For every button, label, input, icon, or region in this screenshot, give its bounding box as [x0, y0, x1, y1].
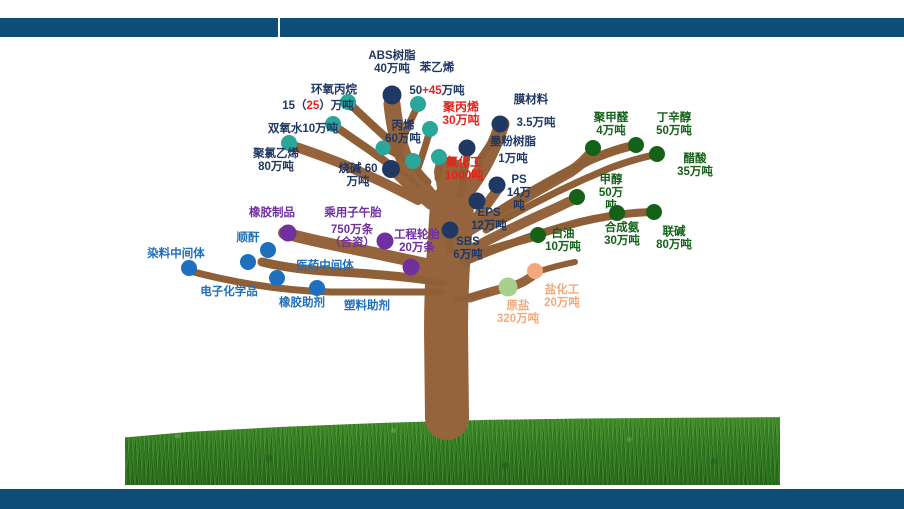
node-raw-salt[interactable]: [499, 278, 518, 297]
node-dye-intermediate[interactable]: [181, 260, 197, 276]
label-line: 合成氨: [604, 222, 640, 235]
label-line: 丁辛醇: [656, 112, 692, 125]
label-lianjian: 联碱80万吨: [656, 226, 692, 252]
label-line: 1万吨: [498, 153, 527, 166]
label-line: 35万吨: [677, 166, 713, 179]
label-line: PS: [507, 174, 531, 187]
label-line: 50万吨: [656, 125, 692, 138]
label-film-material: 膜材料: [514, 94, 549, 107]
label-acetic-acid: 醋酸35万吨: [677, 153, 713, 179]
label-line: 60万吨: [385, 133, 421, 146]
label-line: 聚氯乙烯: [253, 148, 299, 161]
label-highlight: 25: [307, 100, 320, 112]
label-line: 电子化学品: [200, 286, 258, 299]
label-passenger-radial: 乘用子午胎: [324, 207, 382, 220]
node-lianjian[interactable]: [646, 204, 662, 220]
node-rubber-products[interactable]: [280, 225, 297, 242]
node-pharma-intermediate[interactable]: [240, 254, 256, 270]
label-line: 3.5万吨: [517, 117, 556, 130]
label-polyoxymethylene: 聚甲醛4万吨: [594, 112, 629, 138]
node-polyoxymethylene[interactable]: [585, 140, 601, 156]
label-toner-resin: 墨粉树脂: [490, 136, 536, 149]
label-line: 80万吨: [656, 239, 692, 252]
label-octanol: 丁辛醇50万吨: [656, 112, 692, 138]
label-line: 6万吨: [453, 249, 482, 262]
node-abs-resin[interactable]: [383, 86, 402, 105]
node-rubber-additive[interactable]: [309, 280, 325, 296]
label-plastic-additive: 塑料助剂: [344, 300, 390, 313]
label-line: 80万吨: [253, 161, 299, 174]
label-line: 聚甲醛: [594, 112, 629, 125]
label-raw-salt: 原盐320万吨: [497, 300, 539, 326]
node-octanol[interactable]: [628, 137, 644, 153]
label-line: 20万吨: [544, 297, 580, 310]
tree-graphic: [0, 0, 904, 509]
label-styrene-qty: 50+45万吨: [409, 85, 464, 98]
label-line: 万吨: [339, 176, 378, 189]
label-styrene: 苯乙烯: [420, 62, 455, 75]
label-maleic-anhydride: 顺酐: [237, 232, 260, 245]
label-line: 烧碱 60: [339, 163, 378, 176]
label-line: 750万条: [329, 224, 375, 237]
label-line: 醋酸: [677, 153, 713, 166]
label-line: 丙烯: [385, 120, 421, 133]
node-ps[interactable]: [489, 177, 506, 194]
label-abs-resin: ABS树脂40万吨: [368, 50, 415, 76]
bottom-brand-bar: [0, 489, 904, 509]
label-line: 50+45万吨: [409, 85, 464, 98]
label-line: 40万吨: [368, 63, 415, 76]
label-line: （合资）: [329, 237, 375, 250]
label-methanol: 甲醇50万吨: [599, 174, 623, 213]
node-caustic-soda[interactable]: [382, 160, 400, 178]
label-line: 20万条: [394, 242, 440, 255]
label-line: 30万吨: [442, 114, 479, 127]
label-line: SBS: [453, 236, 482, 249]
label-film-material-qty: 3.5万吨: [517, 117, 556, 130]
label-line: 50万: [599, 187, 623, 200]
label-engineering-tire: 工程轮胎20万条: [394, 229, 440, 255]
label-fluorine-chem: 氟化工1000吨: [445, 156, 484, 183]
label-line: EPS: [471, 207, 507, 220]
label-line: 原盐: [497, 300, 539, 313]
node-engineering-tire[interactable]: [403, 259, 420, 276]
label-dye-intermediate: 染料中间体: [147, 248, 205, 261]
label-rubber-additive: 橡胶助剂: [279, 297, 325, 310]
node-electronic-chemicals[interactable]: [269, 270, 285, 286]
label-white-oil: 白油10万吨: [545, 228, 581, 254]
node-polypropylene[interactable]: [422, 121, 438, 137]
node-styrene[interactable]: [410, 96, 426, 112]
label-line: 30万吨: [604, 235, 640, 248]
node-toner-resin[interactable]: [459, 140, 476, 157]
label-epoxy-propane-qty: 15（25）万吨: [282, 100, 354, 113]
label-line: 320万吨: [497, 313, 539, 326]
slide-canvas: ABS树脂40万吨苯乙烯50+45万吨环氧丙烷15（25）万吨膜材料3.5万吨聚…: [0, 0, 904, 509]
label-line: 4万吨: [594, 125, 629, 138]
label-synthetic-ammonia: 合成氨30万吨: [604, 222, 640, 248]
label-line: 环氧丙烷: [311, 84, 357, 97]
label-line: 橡胶制品: [249, 207, 295, 220]
label-polypropylene: 聚丙烯30万吨: [442, 101, 479, 128]
label-electronic-chemicals: 电子化学品: [200, 286, 258, 299]
label-caustic-soda: 烧碱 60万吨: [339, 163, 378, 189]
label-toner-resin-qty: 1万吨: [498, 153, 527, 166]
label-highlight: +45: [422, 85, 442, 97]
label-pharma-intermediate: 医药中间体: [296, 260, 354, 273]
node-passenger-radial[interactable]: [377, 233, 394, 250]
label-line: 双氧水10万吨: [268, 123, 338, 136]
label-line: 吨: [599, 200, 623, 213]
node-methanol[interactable]: [569, 189, 585, 205]
label-line: 医药中间体: [296, 260, 354, 273]
label-line: 工程轮胎: [394, 229, 440, 242]
label-line: 盐化工: [544, 284, 580, 297]
label-line: 塑料助剂: [344, 300, 390, 313]
label-epoxy-propane: 环氧丙烷: [311, 84, 357, 97]
label-line: 墨粉树脂: [490, 136, 536, 149]
label-line: 1000吨: [445, 169, 484, 182]
label-line: 甲醇: [599, 174, 623, 187]
label-line: 吨: [507, 200, 531, 213]
label-line: 10万吨: [545, 241, 581, 254]
label-salt-chemical: 盐化工20万吨: [544, 284, 580, 310]
label-line: 15（25）万吨: [282, 100, 354, 113]
label-line: ABS树脂: [368, 50, 415, 63]
label-line: 白油: [545, 228, 581, 241]
label-line: 12万吨: [471, 220, 507, 233]
label-line: 苯乙烯: [420, 62, 455, 75]
label-ps: PS14万吨: [507, 174, 531, 213]
node-white-oil[interactable]: [530, 227, 546, 243]
label-pvc: 聚氯乙烯80万吨: [253, 148, 299, 174]
label-line: 顺酐: [237, 232, 260, 245]
label-line: 联碱: [656, 226, 692, 239]
label-line: 14万: [507, 187, 531, 200]
twig-2: [446, 296, 449, 320]
node-film-material[interactable]: [492, 116, 509, 133]
label-hydrogen-peroxide: 双氧水10万吨: [268, 123, 338, 136]
node-maleic-anhydride[interactable]: [260, 242, 276, 258]
label-eps: EPS12万吨: [471, 207, 507, 233]
label-line: 染料中间体: [147, 248, 205, 261]
label-line: 橡胶助剂: [279, 297, 325, 310]
label-line: 膜材料: [514, 94, 549, 107]
label-passenger-radial-qty: 750万条（合资）: [329, 224, 375, 250]
label-sbs: SBS6万吨: [453, 236, 482, 262]
label-line: 乘用子午胎: [324, 207, 382, 220]
node-fluorine-chem[interactable]: [405, 153, 421, 169]
label-propylene: 丙烯60万吨: [385, 120, 421, 146]
node-acetic-acid[interactable]: [649, 146, 665, 162]
node-salt-chemical[interactable]: [527, 263, 543, 279]
label-rubber-products: 橡胶制品: [249, 207, 295, 220]
